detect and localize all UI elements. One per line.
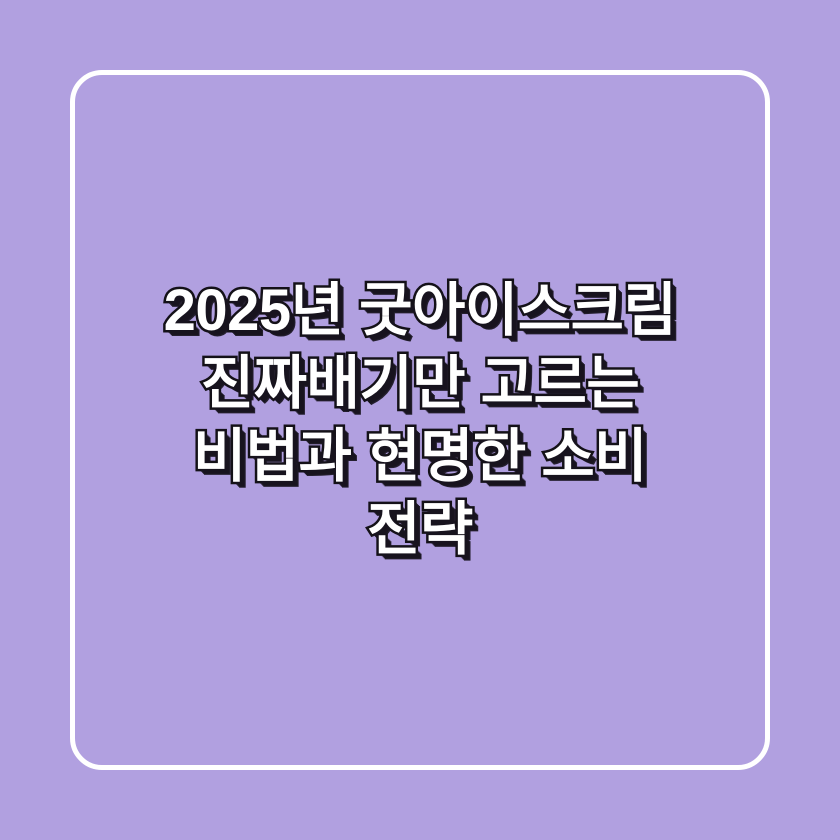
headline-line-1: 2025년 굿아이스크림 (96, 274, 744, 347)
thumbnail-canvas: 2025년 굿아이스크림 진짜배기만 고르는 비법과 현명한 소비 전략 (0, 0, 840, 840)
page-title: 2025년 굿아이스크림 진짜배기만 고르는 비법과 현명한 소비 전략 (96, 274, 744, 566)
headline-line-3: 비법과 현명한 소비 (96, 420, 744, 493)
headline-block: 2025년 굿아이스크림 진짜배기만 고르는 비법과 현명한 소비 전략 (0, 0, 840, 840)
headline-line-2: 진짜배기만 고르는 (96, 347, 744, 420)
headline-line-4: 전략 (96, 493, 744, 566)
